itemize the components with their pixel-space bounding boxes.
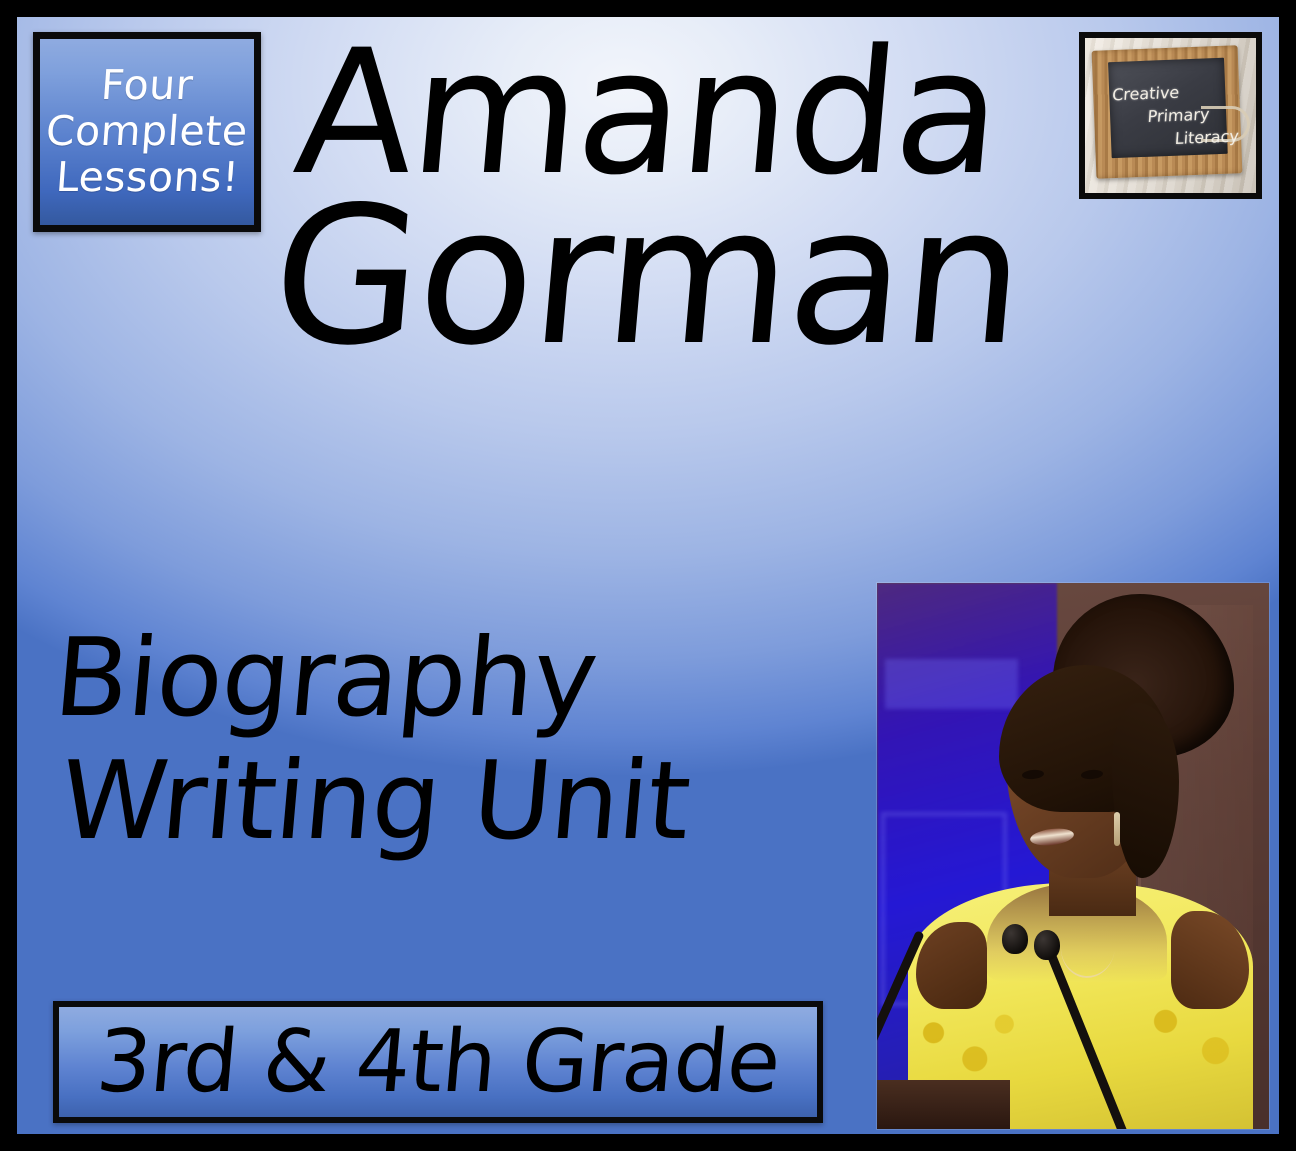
poster-canvas: Four Complete Lessons! Creative Primary …	[0, 0, 1296, 1151]
grade-level-banner: 3rd & 4th Grade	[53, 1001, 823, 1123]
photo-floral-sleeve-left	[904, 998, 1022, 1085]
photo-earring	[1114, 812, 1120, 846]
amanda-gorman-photo	[877, 583, 1269, 1129]
lessons-badge-line-1: Four	[99, 63, 194, 109]
photo-microphone-head-2	[1034, 930, 1060, 960]
photo-floral-sleeve-right	[1128, 987, 1253, 1085]
grade-level-label: 3rd & 4th Grade	[93, 1019, 783, 1105]
photo-podium-edge	[877, 1080, 1010, 1129]
chalkboard-string-icon	[1201, 106, 1250, 142]
photo-blue-panel-upper	[885, 659, 1018, 708]
four-complete-lessons-badge: Four Complete Lessons!	[33, 32, 261, 232]
creative-primary-literacy-logo: Creative Primary Literacy	[1079, 32, 1262, 199]
photo-microphone-head-1	[1002, 924, 1028, 954]
lessons-badge-line-2: Complete	[45, 109, 250, 155]
lessons-badge-line-3: Lessons!	[54, 155, 240, 201]
